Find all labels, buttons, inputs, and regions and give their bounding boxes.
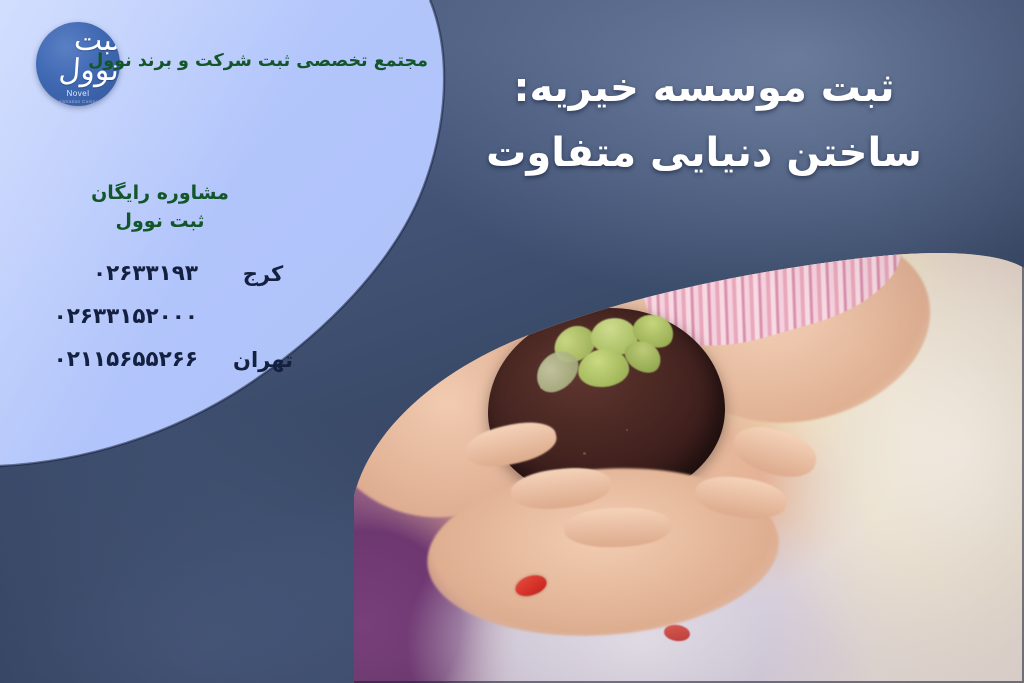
banner-canvas: ثبت نوول Novel Registration Company مجتم… [0,0,1024,683]
contact-city: کرج [220,262,306,286]
contact-phone[interactable]: ۰۲۶۳۳۱۹۳ [93,261,198,286]
contact-row[interactable]: ۰۲۶۳۳۱۵۲۰۰۰ [0,295,320,338]
consultation-line-2: ثبت نوول [20,208,300,236]
logo-english-name: Novel [67,89,90,98]
page-title: ثبت موسسه خیریه: ساختن دنیایی متفاوت [444,56,964,186]
headline-line-1: ثبت موسسه خیریه: [444,56,964,121]
consultation-line-1: مشاوره رایگان [20,180,300,208]
contact-row[interactable]: تهران ۰۲۱۱۵۶۵۵۲۶۶ [0,338,320,381]
contact-list: کرج ۰۲۶۳۳۱۹۳ ۰۲۶۳۳۱۵۲۰۰۰ تهران ۰۲۱۱۵۶۵۵۲… [0,252,320,381]
contact-phone[interactable]: ۰۲۶۳۳۱۵۲۰۰۰ [54,304,198,329]
free-consultation-block: مشاوره رایگان ثبت نوول [20,180,300,235]
headline-line-2: ساختن دنیایی متفاوت [444,121,964,186]
contact-phone[interactable]: ۰۲۱۱۵۶۵۵۲۶۶ [54,347,198,372]
contact-city: تهران [220,348,306,372]
contact-row[interactable]: کرج ۰۲۶۳۳۱۹۳ [0,252,320,295]
company-tagline: مجتمع تخصصی ثبت شرکت و برند نوول [108,50,428,74]
